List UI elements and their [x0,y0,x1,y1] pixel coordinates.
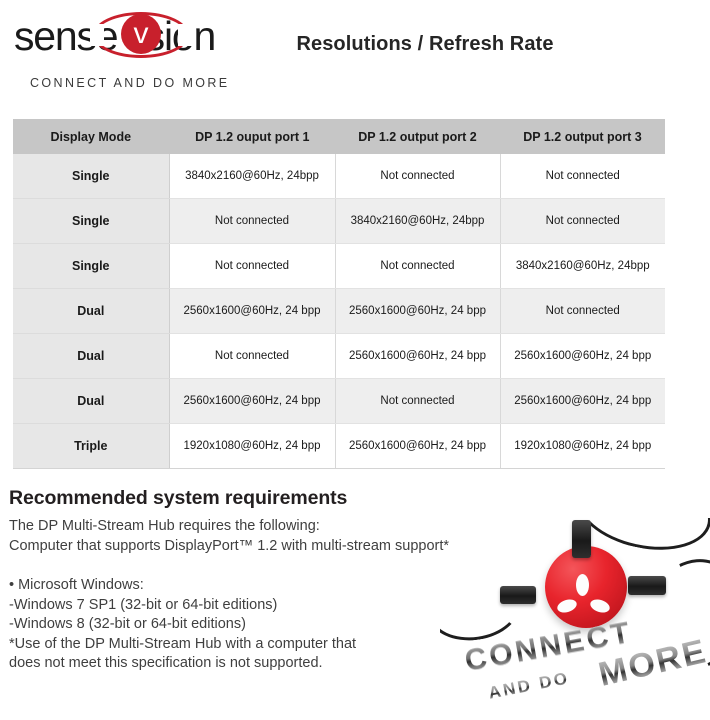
list-item: -Windows 7 SP1 (32-bit or 64-bit edition… [9,596,356,616]
tagline-word-and-do: AND DO [487,668,571,703]
column-header-port-1: DP 1.2 ouput port 1 [169,119,335,154]
cell-port-1: 2560x1600@60Hz, 24 bpp [169,379,335,424]
connector-top [572,520,591,558]
table-body: Single 3840x2160@60Hz, 24bpp Not connect… [13,154,665,469]
cell-port-2: 2560x1600@60Hz, 24 bpp [335,334,500,379]
cell-port-3: Not connected [500,199,665,244]
requirements-intro-line-2: Computer that supports DisplayPort™ 1.2 … [9,537,449,557]
cell-port-1: 3840x2160@60Hz, 24bpp [169,154,335,199]
table-row: Single 3840x2160@60Hz, 24bpp Not connect… [13,154,665,199]
cell-port-2: 3840x2160@60Hz, 24bpp [335,199,500,244]
resolutions-table-container: Display Mode DP 1.2 ouput port 1 DP 1.2 … [13,119,665,469]
cell-port-1: Not connected [169,244,335,289]
cell-display-mode: Dual [13,289,169,334]
brand-tagline: CONNECT AND DO MORE [30,76,230,90]
cell-port-1: 1920x1080@60Hz, 24 bpp [169,424,335,469]
cell-display-mode: Single [13,199,169,244]
cell-port-3: 2560x1600@60Hz, 24 bpp [500,334,665,379]
cell-display-mode: Single [13,244,169,289]
cell-port-2: Not connected [335,154,500,199]
table-row: Dual 2560x1600@60Hz, 24 bpp Not connecte… [13,379,665,424]
list-item: • Microsoft Windows: [9,576,356,596]
table-header-row: Display Mode DP 1.2 ouput port 1 DP 1.2 … [13,119,665,154]
cell-port-2: 2560x1600@60Hz, 24 bpp [335,289,500,334]
list-item: does not meet this specification is not … [9,654,356,674]
connector-right [628,576,666,595]
requirements-intro-line-1: The DP Multi-Stream Hub requires the fol… [9,517,449,537]
cell-display-mode: Dual [13,379,169,424]
column-header-port-3: DP 1.2 output port 3 [500,119,665,154]
cell-port-1: 2560x1600@60Hz, 24 bpp [169,289,335,334]
cell-port-3: Not connected [500,154,665,199]
list-item: -Windows 8 (32-bit or 64-bit editions) [9,615,356,635]
cell-port-3: 2560x1600@60Hz, 24 bpp [500,379,665,424]
table-row: Single Not connected 3840x2160@60Hz, 24b… [13,199,665,244]
table-row: Triple 1920x1080@60Hz, 24 bpp 2560x1600@… [13,424,665,469]
cell-port-2: 2560x1600@60Hz, 24 bpp [335,424,500,469]
product-photo: CONNECT MORE AND DO [440,518,710,720]
cell-port-2: Not connected [335,244,500,289]
photo-tagline-3d: CONNECT MORE AND DO [452,626,708,718]
requirements-heading: Recommended system requirements [9,487,347,510]
table-header: Display Mode DP 1.2 ouput port 1 DP 1.2 … [13,119,665,154]
cell-display-mode: Dual [13,334,169,379]
list-item: *Use of the DP Multi-Stream Hub with a c… [9,635,356,655]
connector-left [500,586,536,604]
cell-display-mode: Single [13,154,169,199]
requirements-list: • Microsoft Windows: -Windows 7 SP1 (32-… [9,576,356,674]
hub-slot-center [576,574,589,596]
cell-port-2: Not connected [335,379,500,424]
table-row: Dual Not connected 2560x1600@60Hz, 24 bp… [13,334,665,379]
cell-port-1: Not connected [169,334,335,379]
cell-port-3: 1920x1080@60Hz, 24 bpp [500,424,665,469]
table-row: Dual 2560x1600@60Hz, 24 bpp 2560x1600@60… [13,289,665,334]
column-header-display-mode: Display Mode [13,119,169,154]
table-row: Single Not connected Not connected 3840x… [13,244,665,289]
cell-port-3: 3840x2160@60Hz, 24bpp [500,244,665,289]
cell-display-mode: Triple [13,424,169,469]
cell-port-1: Not connected [169,199,335,244]
resolutions-table: Display Mode DP 1.2 ouput port 1 DP 1.2 … [13,119,665,469]
cell-port-3: Not connected [500,289,665,334]
page-header: sensevision v CONNECT AND DO MORE Resolu… [0,0,710,105]
requirements-intro: The DP Multi-Stream Hub requires the fol… [9,517,449,556]
page-title: Resolutions / Refresh Rate [0,33,710,56]
column-header-port-2: DP 1.2 output port 2 [335,119,500,154]
